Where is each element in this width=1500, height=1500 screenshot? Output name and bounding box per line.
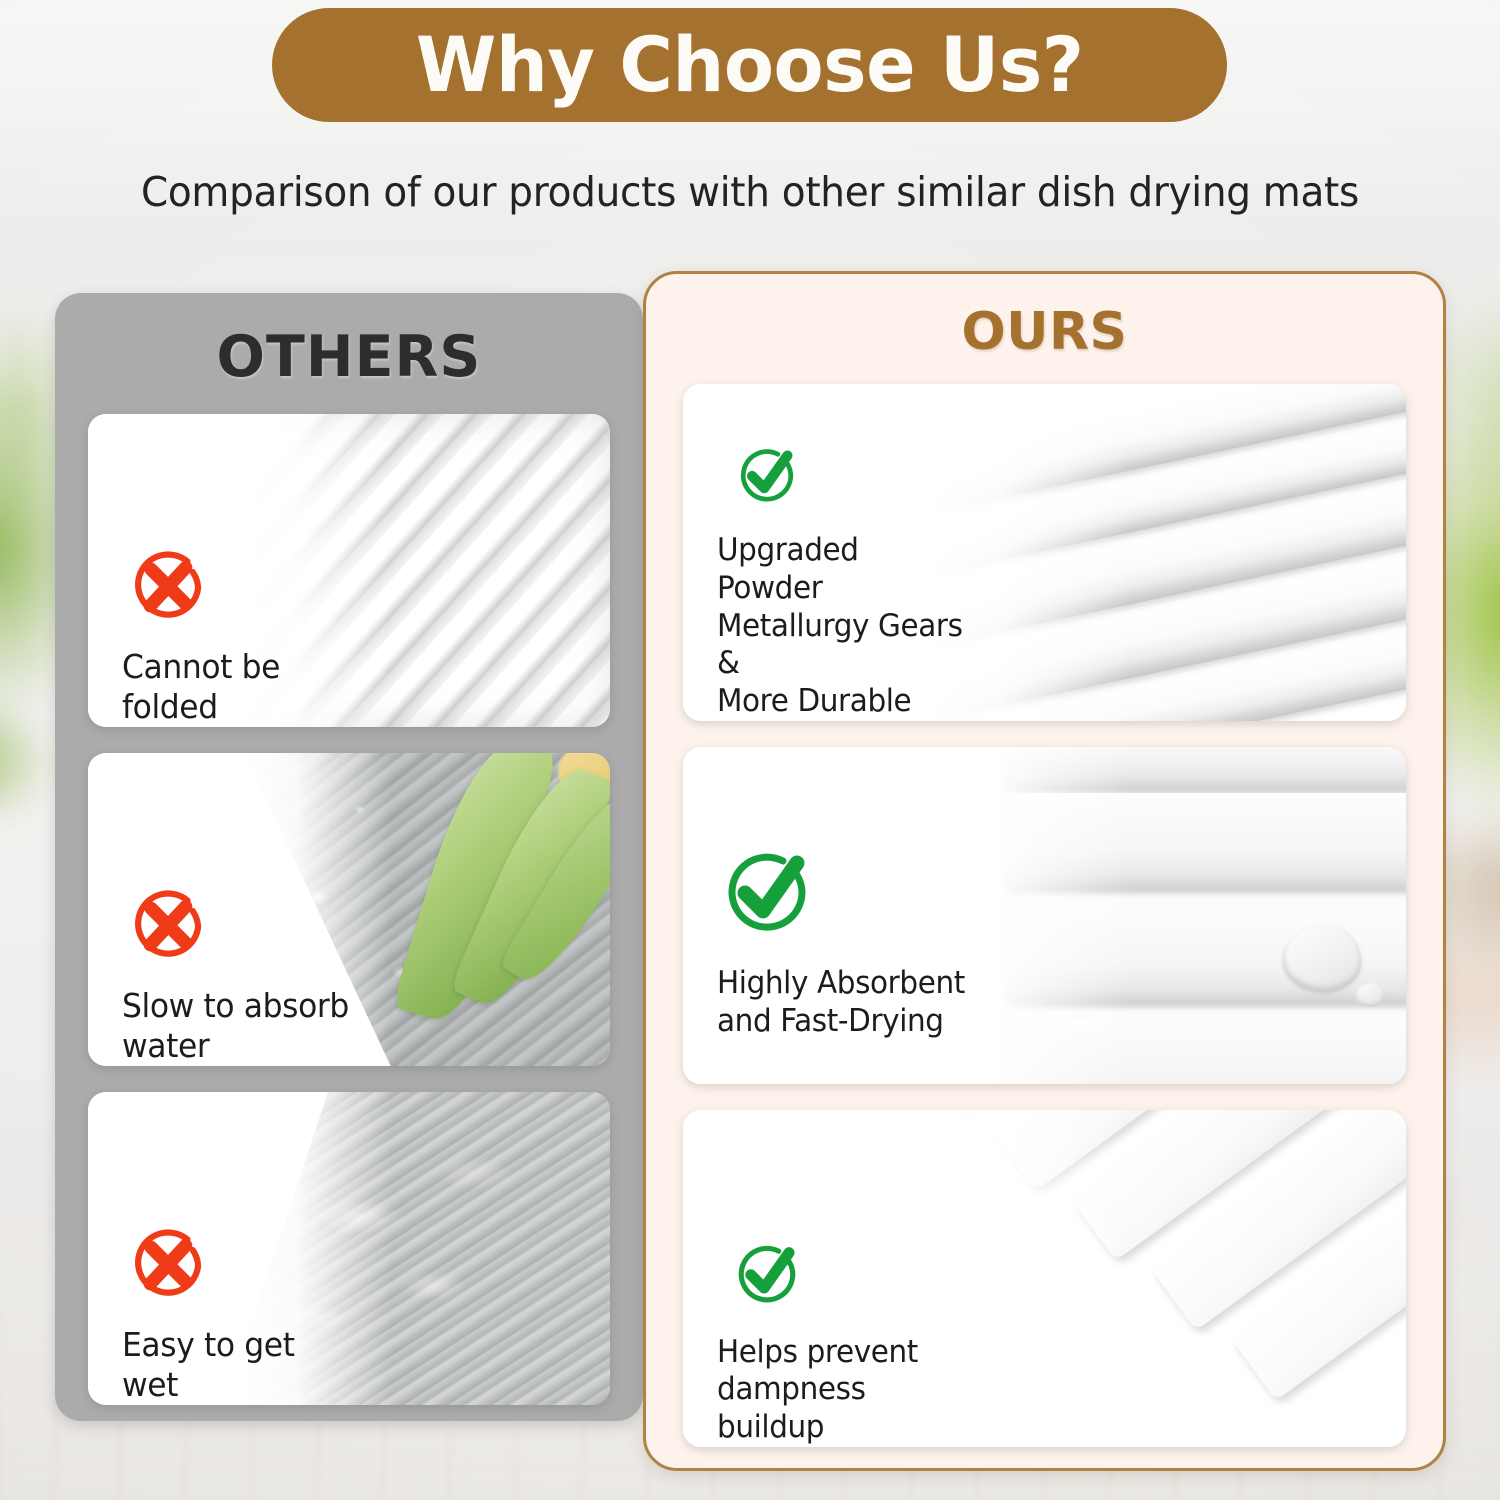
- ours-card-label: Upgraded Powder Metallurgy Gears & More …: [717, 532, 970, 721]
- others-card-body: Easy to get wet: [88, 1092, 363, 1405]
- others-card-cannot-be-folded: Cannot be folded: [88, 414, 610, 727]
- subtitle: Comparison of our products with other si…: [38, 168, 1463, 216]
- others-panel: OTHERS Cannot be folded: [55, 293, 643, 1421]
- others-card-list: Cannot be folded S: [55, 414, 643, 1405]
- green-check-circle-icon: [717, 843, 817, 943]
- ours-card-list: Upgraded Powder Metallurgy Gears & More …: [646, 384, 1443, 1447]
- others-card-body: Cannot be folded: [88, 414, 363, 727]
- page-title: Why Choose Us?: [416, 27, 1084, 103]
- red-x-circle-icon: [122, 881, 214, 970]
- green-check-circle-icon: [717, 1238, 817, 1312]
- ours-panel: OURS Upgraded Powder Metallurg: [643, 271, 1446, 1471]
- ours-card-label: Highly Absorbent and Fast-Drying: [717, 965, 970, 1041]
- ours-card-upgraded-powder-metallurgy-gears: Upgraded Powder Metallurgy Gears & More …: [683, 384, 1406, 721]
- water-droplet-icon: [1355, 983, 1385, 1007]
- others-heading: OTHERS: [55, 329, 643, 386]
- water-droplet-icon: [1283, 925, 1361, 991]
- others-card-easy-to-get-wet: Easy to get wet: [88, 1092, 610, 1405]
- ours-card-highly-absorbent: Highly Absorbent and Fast-Drying: [683, 747, 1406, 1084]
- red-x-circle-icon: [122, 1220, 214, 1309]
- ours-card-body: Highly Absorbent and Fast-Drying: [683, 747, 983, 1084]
- others-card-body: Slow to absorb water: [88, 753, 363, 1066]
- red-x-circle-icon: [122, 542, 214, 631]
- title-banner: Why Choose Us?: [272, 8, 1227, 122]
- others-card-label: Slow to absorb water: [122, 986, 351, 1067]
- infographic-page: Why Choose Us? Comparison of our product…: [0, 0, 1500, 1500]
- others-card-label: Easy to get wet: [122, 1325, 351, 1406]
- ours-card-helps-prevent-dampness: Helps prevent dampness buildup: [683, 1110, 1406, 1447]
- ours-card-label: Helps prevent dampness buildup: [717, 1334, 970, 1447]
- others-card-slow-to-absorb-water: Slow to absorb water: [88, 753, 610, 1066]
- ours-card-body: Helps prevent dampness buildup: [683, 1110, 983, 1447]
- green-check-circle-icon: [717, 442, 817, 510]
- ours-card-body: Upgraded Powder Metallurgy Gears & More …: [683, 384, 983, 721]
- ours-heading: OURS: [646, 306, 1443, 358]
- others-card-label: Cannot be folded: [122, 647, 351, 728]
